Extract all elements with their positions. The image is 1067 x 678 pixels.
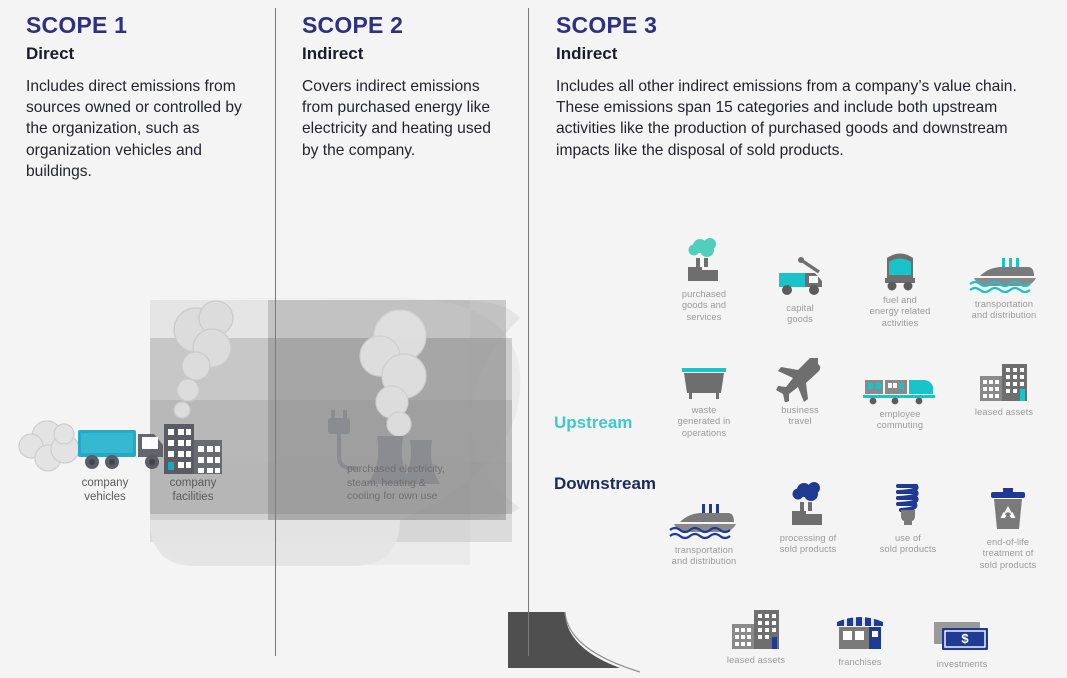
company-vehicles-caption: company vehicles: [60, 476, 150, 505]
recycling-bin-icon: [954, 482, 1062, 534]
icon-caption: investments: [908, 659, 1016, 670]
icon-cell-investments[interactable]: $ investments: [908, 604, 1016, 670]
scope-1-subtitle: Direct: [26, 45, 252, 62]
cargo-ship-icon: [650, 490, 758, 542]
icon-caption: leased assets: [950, 407, 1058, 418]
scope-2-title: SCOPE 2: [302, 14, 510, 37]
company-facility-graphic: [164, 301, 233, 474]
icon-cell-business-travel[interactable]: business travel: [746, 350, 854, 428]
icon-cell-end-of-life-treatment-of-sold-products[interactable]: end-of-life treatment of sold products: [954, 482, 1062, 571]
icon-caption: processing of sold products: [754, 533, 862, 556]
icon-caption: transportation and distribution: [650, 545, 758, 568]
icon-cell-fuel-and-energy-related-activities[interactable]: fuel and energy related activities: [846, 240, 954, 329]
scope-2-body: Covers indirect emissions from purchased…: [302, 76, 510, 161]
column-divider-2: [528, 8, 529, 656]
dumpster-icon: [650, 350, 758, 402]
company-facilities-caption: company facilities: [148, 476, 238, 505]
airplane-icon: [746, 350, 854, 402]
icon-cell-processing-of-sold-products[interactable]: processing of sold products: [754, 478, 862, 556]
icon-cell-leased-assets-up[interactable]: leased assets: [950, 352, 1058, 418]
factory-cloud-icon: [650, 234, 758, 286]
scope-3-body: Includes all other indirect emissions fr…: [556, 76, 1056, 161]
icon-caption: waste generated in operations: [650, 405, 758, 439]
infographic-root: company vehicles company facilities purc…: [0, 0, 1067, 678]
scope-1-column: SCOPE 1 Direct Includes direct emissions…: [26, 0, 252, 182]
factory-cloud-icon: [754, 478, 862, 530]
icon-cell-employee-commuting[interactable]: employee commuting: [846, 354, 954, 432]
icon-caption: end-of-life treatment of sold products: [954, 537, 1062, 571]
svg-text:$: $: [961, 631, 969, 646]
icon-caption: capital goods: [746, 303, 854, 326]
icon-caption: transportation and distribution: [950, 299, 1058, 322]
storefront-icon: [806, 602, 914, 654]
icon-caption: use of sold products: [854, 533, 962, 556]
tow-truck-icon: [746, 248, 854, 300]
icon-caption: franchises: [806, 657, 914, 668]
company-vehicle-graphic: [19, 421, 163, 471]
money-icon: $: [908, 604, 1016, 656]
scope-2-column: SCOPE 2 Indirect Covers indirect emissio…: [302, 0, 510, 161]
icon-cell-transportation-and-distribution-up[interactable]: transportation and distribution: [950, 244, 1058, 322]
icon-caption: fuel and energy related activities: [846, 295, 954, 329]
icon-cell-capital-goods[interactable]: capital goods: [746, 248, 854, 326]
icon-cell-waste-generated-in-operations[interactable]: waste generated in operations: [650, 350, 758, 439]
icon-cell-leased-assets-down[interactable]: leased assets: [702, 600, 810, 666]
cargo-ship-icon: [950, 244, 1058, 296]
scope-2-subtitle: Indirect: [302, 45, 510, 62]
scope-3-subtitle: Indirect: [556, 45, 1056, 62]
upstream-label: Upstream: [554, 413, 632, 433]
purchased-electricity-caption: purchased electricity, steam, heating & …: [347, 463, 497, 504]
purchased-electricity-graphic: [328, 310, 440, 484]
buildings-icon: [702, 600, 810, 652]
downstream-label: Downstream: [554, 474, 656, 494]
icon-cell-transportation-and-distribution-down[interactable]: transportation and distribution: [650, 490, 758, 568]
icon-caption: leased assets: [702, 655, 810, 666]
fuel-tanker-icon: [846, 240, 954, 292]
icon-caption: purchased goods and services: [650, 289, 758, 323]
buildings-icon: [950, 352, 1058, 404]
scope-1-body: Includes direct emissions from sources o…: [26, 76, 252, 182]
icon-caption: employee commuting: [846, 409, 954, 432]
scope-1-title: SCOPE 1: [26, 14, 252, 37]
icon-cell-use-of-sold-products[interactable]: use of sold products: [854, 478, 962, 556]
icon-cell-franchises[interactable]: franchises: [806, 602, 914, 668]
icon-caption: business travel: [746, 405, 854, 428]
train-icon: [846, 354, 954, 406]
column-divider-1: [275, 8, 276, 656]
scope-3-title: SCOPE 3: [556, 14, 1056, 37]
lightbulb-icon: [854, 478, 962, 530]
scope-3-column: SCOPE 3 Indirect Includes all other indi…: [556, 0, 1056, 161]
icon-cell-purchased-goods-and-services[interactable]: purchased goods and services: [650, 234, 758, 323]
